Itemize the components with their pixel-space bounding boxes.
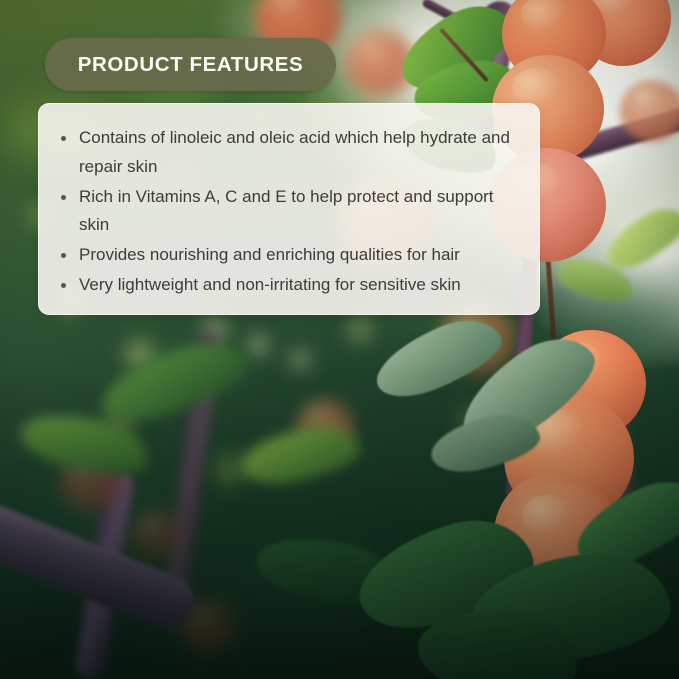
- feature-text: Contains of linoleic and oleic acid whic…: [79, 128, 510, 176]
- product-features-banner: PRODUCT FEATURES Contains of linoleic an…: [0, 0, 679, 679]
- product-features-badge: PRODUCT FEATURES: [45, 38, 336, 91]
- product-features-badge-label: PRODUCT FEATURES: [78, 53, 304, 77]
- features-panel: Contains of linoleic and oleic acid whic…: [38, 103, 540, 315]
- bullet-icon: [61, 136, 66, 141]
- background-photo: [0, 0, 679, 679]
- feature-text: Very lightweight and non-irritating for …: [79, 275, 461, 294]
- list-item: Very lightweight and non-irritating for …: [57, 271, 521, 300]
- list-item: Contains of linoleic and oleic acid whic…: [57, 124, 521, 182]
- bullet-icon: [61, 253, 66, 258]
- feature-text: Provides nourishing and enriching qualit…: [79, 245, 460, 264]
- list-item: Rich in Vitamins A, C and E to help prot…: [57, 183, 521, 241]
- bullet-icon: [61, 195, 66, 200]
- features-list: Contains of linoleic and oleic acid whic…: [57, 124, 521, 300]
- list-item: Provides nourishing and enriching qualit…: [57, 241, 521, 270]
- vignette-layer: [0, 0, 679, 679]
- bullet-icon: [61, 283, 66, 288]
- feature-text: Rich in Vitamins A, C and E to help prot…: [79, 187, 494, 235]
